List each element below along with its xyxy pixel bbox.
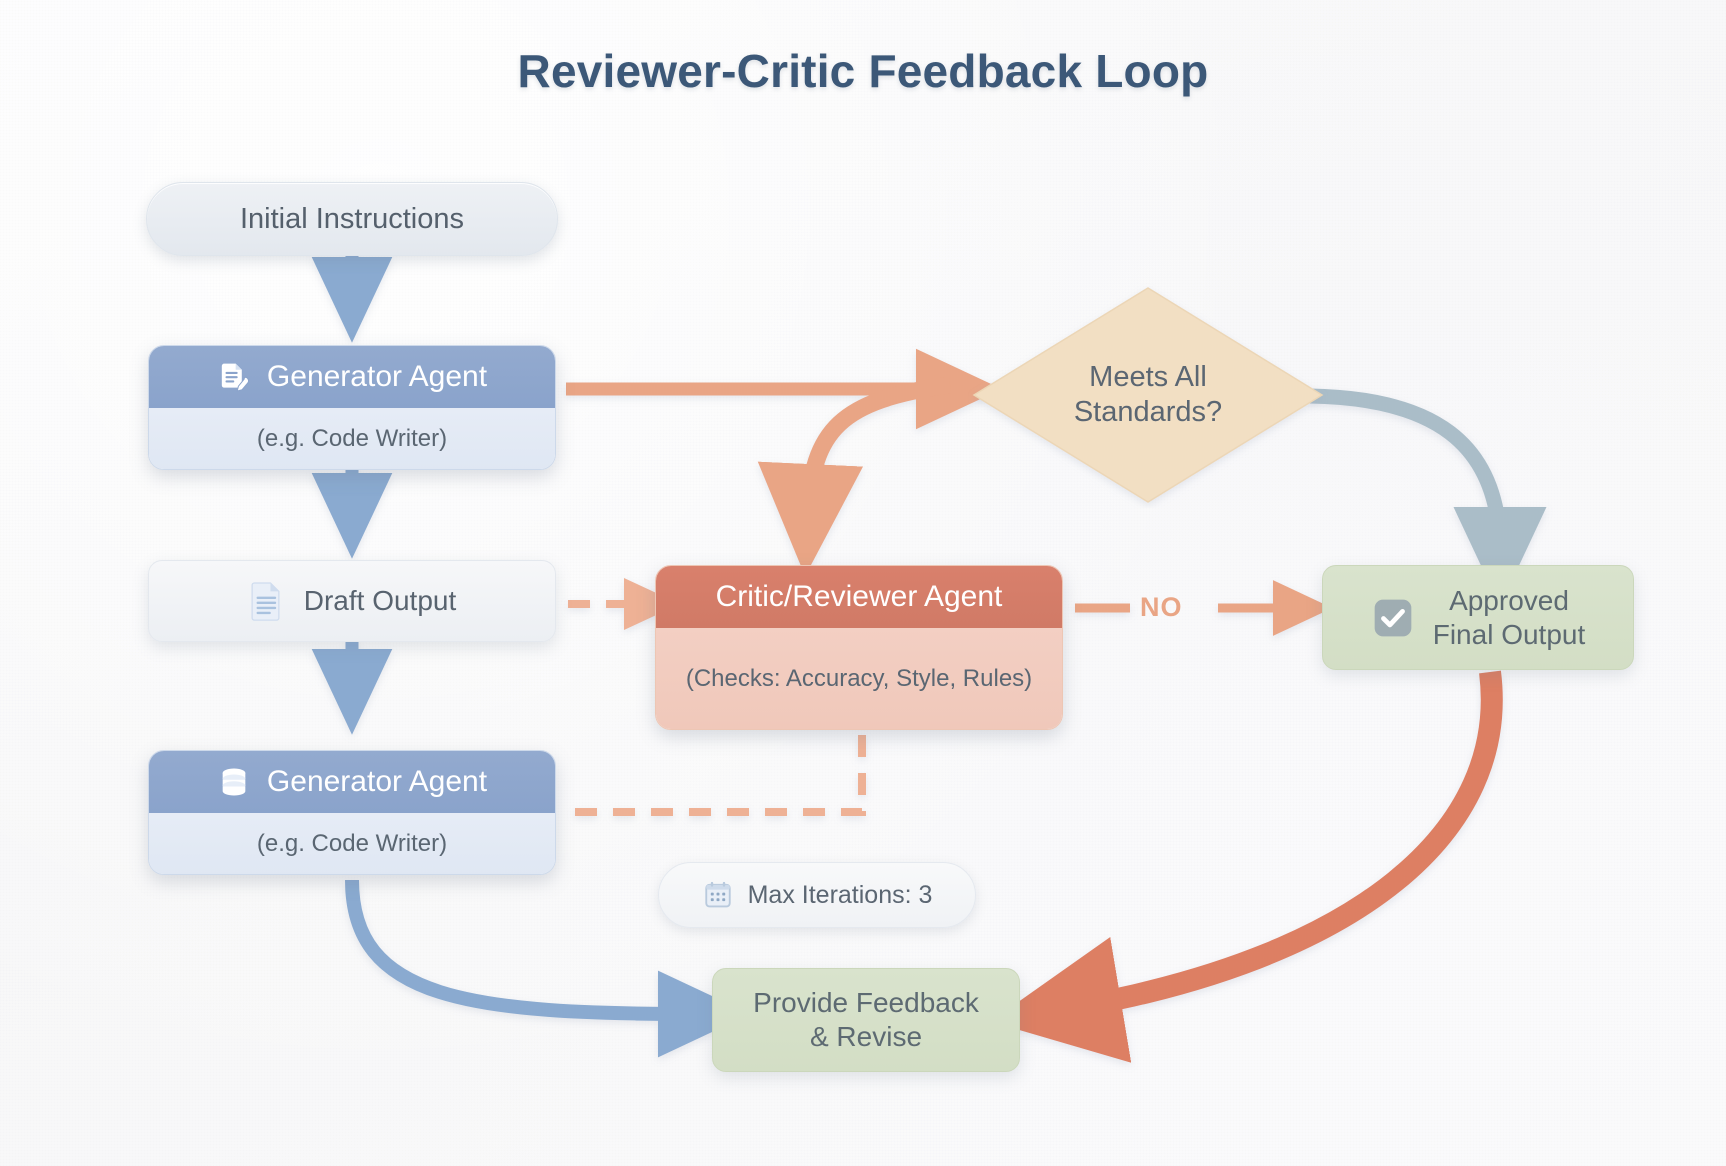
critic-reviewer-subtitle-row: (Checks: Accuracy, Style, Rules) <box>656 628 1062 730</box>
draft-output-label: Draft Output <box>304 584 457 618</box>
critic-reviewer-label: Critic/Reviewer Agent <box>716 580 1003 614</box>
edge-generator-bottom-to-feedback <box>352 880 700 1014</box>
generator-agent-top-subtitle: (e.g. Code Writer) <box>257 425 447 453</box>
initial-instructions-label: Initial Instructions <box>240 203 464 236</box>
provide-feedback-line-2: & Revise <box>810 1021 922 1052</box>
approved-final-output-label: Approved Final Output <box>1433 584 1586 651</box>
decision-diamond-shape <box>968 282 1328 508</box>
generator-agent-bottom-label: Generator Agent <box>267 765 487 799</box>
critic-reviewer-header: Critic/Reviewer Agent <box>656 566 1062 628</box>
check-square-icon <box>1371 596 1415 640</box>
node-decision-meets-standards[interactable]: Meets All Standards? <box>968 282 1328 508</box>
node-generator-agent-top[interactable]: Generator Agent (e.g. Code Writer) <box>148 345 556 470</box>
edge-decision-to-approved <box>1310 396 1500 552</box>
edge-approved-to-feedback <box>1060 672 1492 1010</box>
provide-feedback-line-1: Provide Feedback <box>753 987 979 1018</box>
node-critic-reviewer-agent[interactable]: Critic/Reviewer Agent (Checks: Accuracy,… <box>655 565 1063 730</box>
edge-label-no: NO <box>1140 592 1183 623</box>
generator-agent-bottom-header: Generator Agent <box>149 751 555 813</box>
document-icon <box>248 580 286 622</box>
node-provide-feedback[interactable]: Provide Feedback & Revise <box>712 968 1020 1072</box>
approved-line-2: Final Output <box>1433 619 1586 650</box>
critic-reviewer-subtitle: (Checks: Accuracy, Style, Rules) <box>686 665 1032 693</box>
generator-agent-bottom-subtitle-row: (e.g. Code Writer) <box>149 813 555 875</box>
node-max-iterations-badge[interactable]: Max Iterations: 3 <box>658 862 976 928</box>
max-iterations-label: Max Iterations: 3 <box>748 881 933 910</box>
generator-agent-top-header: Generator Agent <box>149 346 555 408</box>
approved-line-1: Approved <box>1449 585 1569 616</box>
provide-feedback-label: Provide Feedback & Revise <box>753 986 979 1053</box>
database-icon <box>217 765 251 799</box>
generator-agent-top-label: Generator Agent <box>267 360 487 394</box>
document-pen-icon <box>217 360 251 394</box>
node-generator-agent-bottom[interactable]: Generator Agent (e.g. Code Writer) <box>148 750 556 875</box>
edge-critic-to-generator-bottom <box>566 735 862 812</box>
generator-agent-top-subtitle-row: (e.g. Code Writer) <box>149 408 555 470</box>
node-approved-final-output[interactable]: Approved Final Output <box>1322 565 1634 670</box>
node-initial-instructions[interactable]: Initial Instructions <box>146 182 558 256</box>
generator-agent-bottom-subtitle: (e.g. Code Writer) <box>257 830 447 858</box>
calendar-grid-icon <box>702 879 734 911</box>
edge-branch-to-critic <box>808 385 950 515</box>
diagram-canvas: Reviewer-Critic Feedback Loop <box>0 0 1726 1166</box>
node-draft-output[interactable]: Draft Output <box>148 560 556 642</box>
